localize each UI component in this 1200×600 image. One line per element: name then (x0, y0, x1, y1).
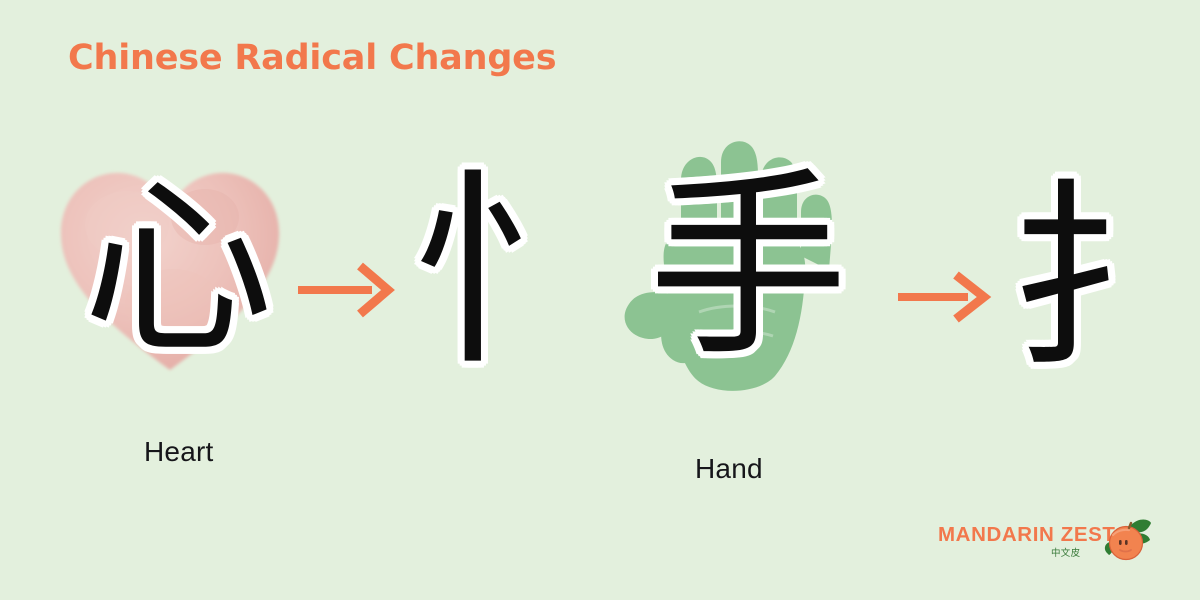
character-heart-radical: 忄 (410, 168, 618, 376)
character-heart-full: 心 (83, 175, 273, 365)
caption-hand: Hand (695, 453, 763, 485)
brand-logo[interactable]: MANDARIN ZEST 中文皮 (938, 515, 1158, 573)
caption-heart: Heart (144, 436, 213, 468)
infographic-canvas: Chinese Radical Changes 心 忄 Heart (0, 0, 1200, 600)
logo-subtitle: 中文皮 (1051, 545, 1080, 559)
mandarin-orange-icon (1101, 515, 1155, 567)
arrow-right-icon (298, 262, 398, 318)
logo-wordmark: MANDARIN ZEST (938, 523, 1116, 547)
arrow-right-icon (898, 271, 994, 323)
heart-glyph-stage: 心 (55, 165, 305, 390)
character-hand-radical: 扌 (1008, 180, 1200, 380)
hand-glyph-stage: 手 (603, 140, 863, 405)
page-title: Chinese Radical Changes (68, 38, 556, 78)
character-hand-full: 手 (648, 168, 848, 368)
